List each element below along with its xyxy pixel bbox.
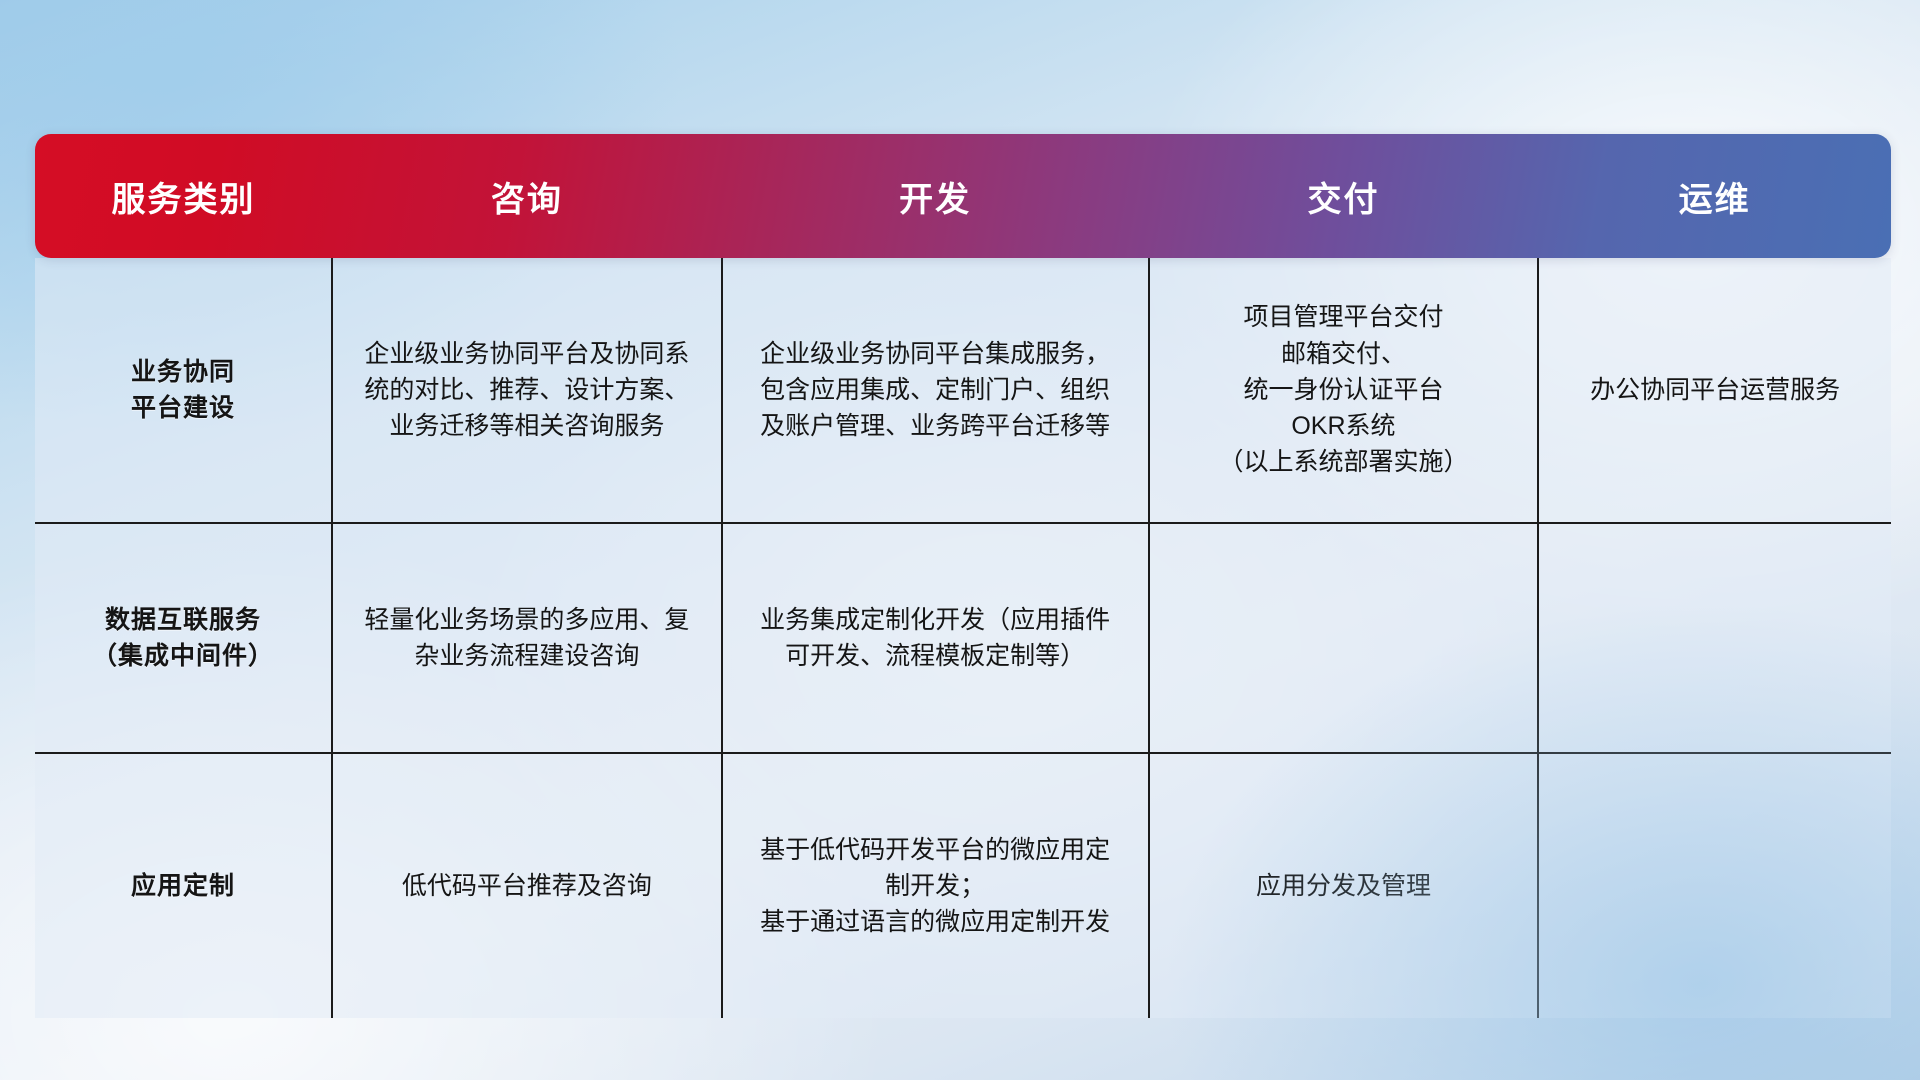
header-cell-development: 开发 [722,134,1149,258]
table-row: 数据互联服务 （集成中间件） 轻量化业务场景的多应用、复 杂业务流程建设咨询 业… [35,523,1891,753]
row-category-label: 数据互联服务 （集成中间件） [35,523,332,753]
cell-consulting: 轻量化业务场景的多应用、复 杂业务流程建设咨询 [332,523,722,753]
header-cell-consulting: 咨询 [332,134,722,258]
cell-development: 企业级业务协同平台集成服务， 包含应用集成、定制门户、组织 及账户管理、业务跨平… [722,258,1149,523]
header-cell-operations: 运维 [1538,134,1891,258]
service-matrix-table: 服务类别 咨询 开发 交付 运维 业务协同 平台建设 企业级业务协同平台及协同系… [35,134,1891,1018]
cell-operations [1538,753,1891,1018]
table-row: 应用定制 低代码平台推荐及咨询 基于低代码开发平台的微应用定 制开发； 基于通过… [35,753,1891,1018]
header-cell-delivery: 交付 [1149,134,1539,258]
row-category-label: 业务协同 平台建设 [35,258,332,523]
service-matrix-wrapper: 服务类别 咨询 开发 交付 运维 业务协同 平台建设 企业级业务协同平台及协同系… [35,134,1891,1018]
table-header: 服务类别 咨询 开发 交付 运维 [35,134,1891,258]
cell-consulting: 企业级业务协同平台及协同系 统的对比、推荐、设计方案、 业务迁移等相关咨询服务 [332,258,722,523]
cell-consulting: 低代码平台推荐及咨询 [332,753,722,1018]
page-canvas: 服务类别 咨询 开发 交付 运维 业务协同 平台建设 企业级业务协同平台及协同系… [0,0,1920,1080]
row-category-label: 应用定制 [35,753,332,1018]
cell-development: 基于低代码开发平台的微应用定 制开发； 基于通过语言的微应用定制开发 [722,753,1149,1018]
cell-operations [1538,523,1891,753]
cell-delivery: 应用分发及管理 [1149,753,1539,1018]
table-body: 业务协同 平台建设 企业级业务协同平台及协同系 统的对比、推荐、设计方案、 业务… [35,258,1891,1018]
header-cell-category: 服务类别 [35,134,332,258]
cell-delivery: 项目管理平台交付 邮箱交付、 统一身份认证平台 OKR系统 （以上系统部署实施） [1149,258,1539,523]
table-row: 业务协同 平台建设 企业级业务协同平台及协同系 统的对比、推荐、设计方案、 业务… [35,258,1891,523]
cell-development: 业务集成定制化开发（应用插件 可开发、流程模板定制等） [722,523,1149,753]
cell-operations: 办公协同平台运营服务 [1538,258,1891,523]
cell-delivery [1149,523,1539,753]
header-row: 服务类别 咨询 开发 交付 运维 [35,134,1891,258]
